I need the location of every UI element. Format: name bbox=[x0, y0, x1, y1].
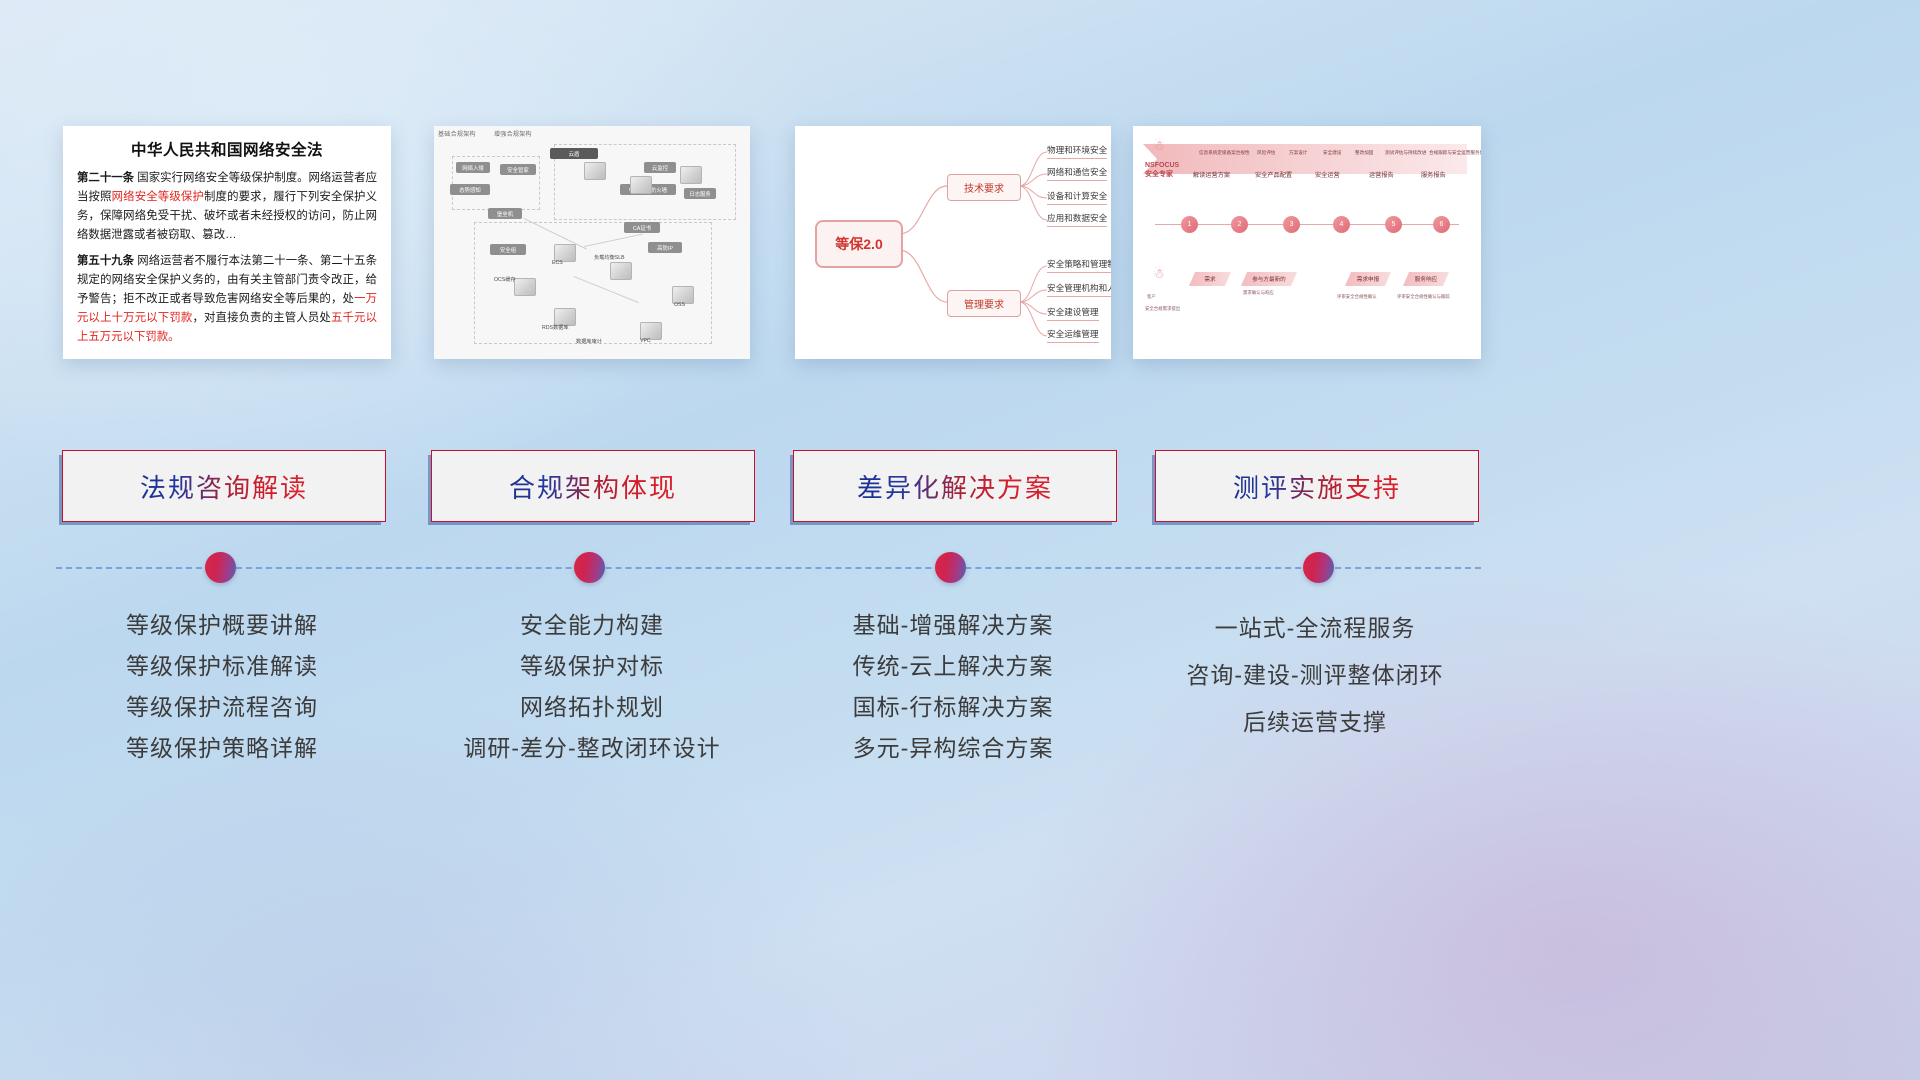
arch-chip-log: 日志服务 bbox=[684, 188, 716, 199]
title-box-compliance-architecture[interactable]: 合规架构体现 bbox=[431, 450, 755, 522]
card-law-document[interactable]: 中华人民共和国网络安全法 第二十一条 国家实行网络安全等级保护制度。网络运营者应… bbox=[63, 126, 391, 359]
roadmap-axis bbox=[1155, 224, 1459, 225]
law-article-21-highlight: 网络安全等级保护 bbox=[112, 191, 204, 203]
mind-map-leaf-t4: 应用和数据安全 bbox=[1047, 212, 1107, 227]
mind-map-branch-technical: 技术要求 bbox=[947, 174, 1021, 201]
law-document-body: 中华人民共和国网络安全法 第二十一条 国家实行网络安全等级保护制度。网络运营者应… bbox=[63, 126, 391, 359]
roadmap-step-4: 4 bbox=[1333, 216, 1350, 233]
list-item: 国标-行标解决方案 bbox=[773, 687, 1133, 728]
timeline-dashed-line bbox=[56, 567, 1481, 569]
arch-node-server-b bbox=[630, 176, 652, 194]
roadmap-phase-header-6: 合规跟踪与安全运营服务体系构建 bbox=[1429, 150, 1481, 156]
roadmap-header-bar bbox=[1143, 144, 1467, 174]
timeline-dot-4[interactable] bbox=[1303, 552, 1334, 583]
law-article-59: 第五十九条 网络运营者不履行本法第二十一条、第二十五条规定的网络安全保护义务的，… bbox=[77, 252, 377, 347]
timeline-dot-3[interactable] bbox=[935, 552, 966, 583]
law-article-59-label: 第五十九条 bbox=[77, 255, 134, 267]
roadmap-tag-1: 参与方最新的 bbox=[1241, 272, 1297, 286]
title-box-differentiated-solution[interactable]: 差异化解决方案 bbox=[793, 450, 1117, 522]
card-roadmap[interactable]: ☃ NSFOCUS安全专家 信息系统定级备案合规性 风险评估 方案设计 安全建设… bbox=[1133, 126, 1481, 359]
arch-node-server-a bbox=[584, 162, 606, 180]
text-column-2: 安全能力构建 等级保护对标 网络拓扑规划 调研-差分-整改闭环设计 bbox=[412, 605, 772, 769]
architecture-diagram-body: 基础合规架构 增强合规架构 云盾 网络入侵 态势感知 安全管家 堡垒机 Web应… bbox=[434, 126, 750, 359]
title-box-label-3: 差异化解决方案 bbox=[857, 468, 1053, 505]
arch-chip-cloud-shield: 云盾 bbox=[550, 148, 598, 159]
roadmap-phase-header-4: 整改加固 bbox=[1355, 150, 1373, 156]
roadmap-phase-label-1: 安全产品配置 bbox=[1255, 170, 1292, 179]
law-article-21-label: 第二十一条 bbox=[77, 172, 134, 184]
roadmap-note-2: 评审安全合规性确认 bbox=[1337, 294, 1377, 300]
roadmap-step-6: 6 bbox=[1433, 216, 1450, 233]
roadmap-phase-label-0: 解读运营方案 bbox=[1193, 170, 1230, 179]
text-column-4: 一站式-全流程服务 咨询-建设-测评整体闭环 后续运营支撑 bbox=[1135, 605, 1495, 746]
law-article-21: 第二十一条 国家实行网络安全等级保护制度。网络运营者应当按照网络安全等级保护制度… bbox=[77, 169, 377, 245]
roadmap-phase-header-5: 测试评估与持续改进 bbox=[1385, 150, 1426, 156]
roadmap-step-2: 2 bbox=[1231, 216, 1248, 233]
mind-map-leaf-m3: 安全建设管理 bbox=[1047, 306, 1099, 321]
roadmap-phase-label-2: 安全运营 bbox=[1315, 170, 1340, 179]
text-column-3: 基础-增强解决方案 传统-云上解决方案 国标-行标解决方案 多元-异构综合方案 bbox=[773, 605, 1133, 769]
list-item: 多元-异构综合方案 bbox=[773, 728, 1133, 769]
mind-map-leaf-t1: 物理和环境安全 bbox=[1047, 144, 1107, 159]
arch-chip-security-group: 安全组 bbox=[490, 244, 526, 255]
arch-node-ocs bbox=[514, 278, 536, 296]
card-mind-map[interactable]: 等保2.0 技术要求 管理要求 物理和环境安全 网络和通信安全 设备和计算安全 … bbox=[795, 126, 1111, 359]
roadmap-phase-label-4: 服务报告 bbox=[1421, 170, 1446, 179]
list-item: 安全能力构建 bbox=[412, 605, 772, 646]
list-item: 等级保护标准解读 bbox=[42, 646, 402, 687]
roadmap-note-1: 需求确认与响应 bbox=[1243, 290, 1274, 296]
mind-map-leaf-m4: 安全运维管理 bbox=[1047, 328, 1099, 343]
arch-label-oss: OSS bbox=[674, 302, 685, 308]
mind-map-leaf-t2: 网络和通信安全 bbox=[1047, 166, 1107, 181]
arch-header-right: 增强合规架构 bbox=[494, 129, 532, 138]
roadmap-logo: NSFOCUS安全专家 bbox=[1145, 162, 1179, 180]
title-box-evaluation-support[interactable]: 测评实施支持 bbox=[1155, 450, 1479, 522]
roadmap-step-5: 5 bbox=[1385, 216, 1402, 233]
image-card-row: 中华人民共和国网络安全法 第二十一条 国家实行网络安全等级保护制度。网络运营者应… bbox=[0, 0, 1920, 440]
arch-header-left: 基础合规架构 bbox=[438, 129, 476, 138]
list-item: 等级保护策略详解 bbox=[42, 728, 402, 769]
arch-node-server-c bbox=[680, 166, 702, 184]
arch-chip-anti-ddos: 高防IP bbox=[648, 242, 682, 253]
title-box-label-1: 法规咨询解读 bbox=[140, 468, 308, 505]
roadmap-customer-label: 客户 bbox=[1147, 294, 1156, 300]
roadmap-note-0: 安全合规需求提出 bbox=[1145, 306, 1180, 312]
list-item: 咨询-建设-测评整体闭环 bbox=[1135, 652, 1495, 699]
mind-map-leaf-m2: 安全管理机构和人员 bbox=[1047, 282, 1111, 297]
arch-label-ecs: ECS bbox=[552, 260, 563, 266]
customer-avatar-icon: ☃ bbox=[1153, 266, 1165, 282]
roadmap-phase-header-1: 风险评估 bbox=[1257, 150, 1275, 156]
arch-chip-cloud-monitor: 云监控 bbox=[644, 162, 676, 173]
roadmap-tag-3: 服务响应 bbox=[1403, 272, 1449, 286]
arch-chip-netin: 网络入侵 bbox=[456, 162, 490, 173]
roadmap-body: ☃ NSFOCUS安全专家 信息系统定级备案合规性 风险评估 方案设计 安全建设… bbox=[1133, 126, 1481, 359]
arch-label-vpc: VPC bbox=[640, 338, 651, 344]
arch-label-rds: RDS数据库 bbox=[542, 324, 569, 331]
list-item: 基础-增强解决方案 bbox=[773, 605, 1133, 646]
title-box-label-2: 合规架构体现 bbox=[509, 468, 677, 505]
expert-avatar-icon: ☃ bbox=[1153, 138, 1165, 154]
mind-map-root: 等保2.0 bbox=[815, 220, 903, 268]
list-item: 网络拓扑规划 bbox=[412, 687, 772, 728]
list-item: 等级保护流程咨询 bbox=[42, 687, 402, 728]
mind-map-branch-management: 管理要求 bbox=[947, 290, 1021, 317]
list-item: 一站式-全流程服务 bbox=[1135, 605, 1495, 652]
mind-map-leaf-m1: 安全策略和管理制度 bbox=[1047, 258, 1111, 273]
roadmap-phase-header-0: 信息系统定级备案合规性 bbox=[1199, 150, 1250, 156]
arch-chip-security-butler: 安全管家 bbox=[500, 164, 536, 175]
list-item: 传统-云上解决方案 bbox=[773, 646, 1133, 687]
arch-label-db-audit: 数据库审计 bbox=[576, 338, 602, 345]
list-item: 等级保护概要讲解 bbox=[42, 605, 402, 646]
mind-map-leaf-t3: 设备和计算安全 bbox=[1047, 190, 1107, 205]
roadmap-tag-2: 需求申报 bbox=[1345, 272, 1391, 286]
roadmap-phase-header-2: 方案设计 bbox=[1289, 150, 1307, 156]
slide-canvas: 中华人民共和国网络安全法 第二十一条 国家实行网络安全等级保护制度。网络运营者应… bbox=[0, 0, 1920, 1080]
arch-chip-ca: CA证书 bbox=[624, 222, 660, 233]
list-item: 调研-差分-整改闭环设计 bbox=[412, 728, 772, 769]
timeline-dot-1[interactable] bbox=[205, 552, 236, 583]
arch-node-slb bbox=[610, 262, 632, 280]
text-column-1: 等级保护概要讲解 等级保护标准解读 等级保护流程咨询 等级保护策略详解 bbox=[42, 605, 402, 769]
roadmap-tag-0: 需求 bbox=[1189, 272, 1231, 286]
mind-map-body: 等保2.0 技术要求 管理要求 物理和环境安全 网络和通信安全 设备和计算安全 … bbox=[795, 126, 1111, 359]
arch-chip-situation: 态势感知 bbox=[450, 184, 490, 195]
title-box-label-4: 测评实施支持 bbox=[1233, 468, 1401, 505]
list-item: 后续运营支撑 bbox=[1135, 699, 1495, 746]
list-item: 等级保护对标 bbox=[412, 646, 772, 687]
roadmap-step-1: 1 bbox=[1181, 216, 1198, 233]
timeline-dot-2[interactable] bbox=[574, 552, 605, 583]
roadmap-note-3: 评审安全合规性确认与跟踪 bbox=[1397, 294, 1450, 300]
arch-label-ocs: OCS缓存 bbox=[494, 276, 516, 283]
arch-chip-bastion: 堡垒机 bbox=[488, 208, 522, 219]
card-architecture-diagram[interactable]: 基础合规架构 增强合规架构 云盾 网络入侵 态势感知 安全管家 堡垒机 Web应… bbox=[434, 126, 750, 359]
arch-label-slb: 负载均衡SLB bbox=[594, 254, 625, 261]
title-box-regulation-consulting[interactable]: 法规咨询解读 bbox=[62, 450, 386, 522]
roadmap-phase-header-3: 安全建设 bbox=[1323, 150, 1341, 156]
law-document-title: 中华人民共和国网络安全法 bbox=[77, 138, 377, 160]
roadmap-step-3: 3 bbox=[1283, 216, 1300, 233]
law-article-59-text-mid: ，对直接负责的主管人员处 bbox=[192, 312, 331, 324]
roadmap-phase-label-3: 运营报告 bbox=[1369, 170, 1394, 179]
